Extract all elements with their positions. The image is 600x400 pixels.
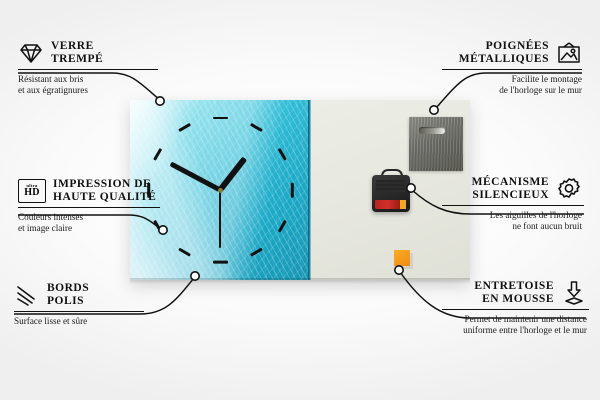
ultra-hd-badge-icon: ultra HD [18, 179, 46, 203]
callout-header: ultra HD IMPRESSION DE HAUTE QUALITÉ [18, 178, 158, 204]
callout-title: BORDS POLIS [47, 282, 89, 308]
callout-title: POIGNÉES MÉTALLIQUES [459, 40, 549, 66]
callout-subtitle: Permet de maintenir une distance uniform… [442, 314, 587, 336]
callout-title: ENTRETOISE EN MOUSSE [474, 280, 554, 306]
infographic-canvas: VERRE TREMPÉ Résistant aux bris et aux é… [0, 0, 600, 400]
callout-rule [442, 309, 589, 310]
callout-subtitle: Facilite le montage de l'horloge sur le … [442, 74, 582, 96]
callout-title: VERRE TREMPÉ [51, 40, 103, 66]
callout-bords-polis: BORDS POLIS Surface lisse et sûre [14, 282, 142, 327]
callout-verre-trempe: VERRE TREMPÉ Résistant aux bris et aux é… [18, 40, 158, 96]
callout-title: IMPRESSION DE HAUTE QUALITÉ [53, 178, 156, 204]
hd-text: HD [24, 188, 39, 198]
callout-rule [442, 205, 584, 206]
anchor-dot-mecanisme [407, 184, 415, 192]
callout-subtitle: Couleurs intenses et image claire [18, 212, 158, 234]
callout-poignees-metalliques: POIGNÉES MÉTALLIQUES Facilite le montage… [442, 40, 582, 96]
callout-entretoise-en-mousse: ENTRETOISE EN MOUSSE Permet de maintenir… [442, 280, 587, 336]
spacer-arrow-icon [561, 280, 587, 306]
anchor-dot-bords-polis [191, 272, 199, 280]
anchor-dot-verre-trempe [156, 97, 164, 105]
callout-header: MÉCANISME SILENCIEUX [442, 176, 582, 202]
callout-header: VERRE TREMPÉ [18, 40, 158, 66]
callout-header: ENTRETOISE EN MOUSSE [442, 280, 587, 306]
gear-icon [556, 176, 582, 202]
polished-edge-icon [14, 282, 40, 308]
callout-impression-haute-qualite: ultra HD IMPRESSION DE HAUTE QUALITÉ Cou… [18, 178, 158, 234]
callout-rule [18, 207, 160, 208]
wall-mount-icon [556, 40, 582, 66]
diamond-icon [18, 40, 44, 66]
callout-title: MÉCANISME SILENCIEUX [472, 176, 549, 202]
callout-mecanisme-silencieux: MÉCANISME SILENCIEUX Les aiguilles de l'… [442, 176, 582, 232]
callout-subtitle: Surface lisse et sûre [14, 316, 142, 327]
callout-rule [18, 69, 158, 70]
anchor-dot-entretoise [395, 266, 403, 274]
callout-header: POIGNÉES MÉTALLIQUES [442, 40, 582, 66]
anchor-dot-poignees [430, 106, 438, 114]
callout-rule [14, 311, 144, 312]
callout-rule [442, 69, 582, 70]
callout-subtitle: Les aiguilles de l'horloge ne font aucun… [442, 210, 582, 232]
callout-header: BORDS POLIS [14, 282, 142, 308]
anchor-dot-impression [159, 226, 167, 234]
callout-subtitle: Résistant aux bris et aux égratignures [18, 74, 158, 96]
